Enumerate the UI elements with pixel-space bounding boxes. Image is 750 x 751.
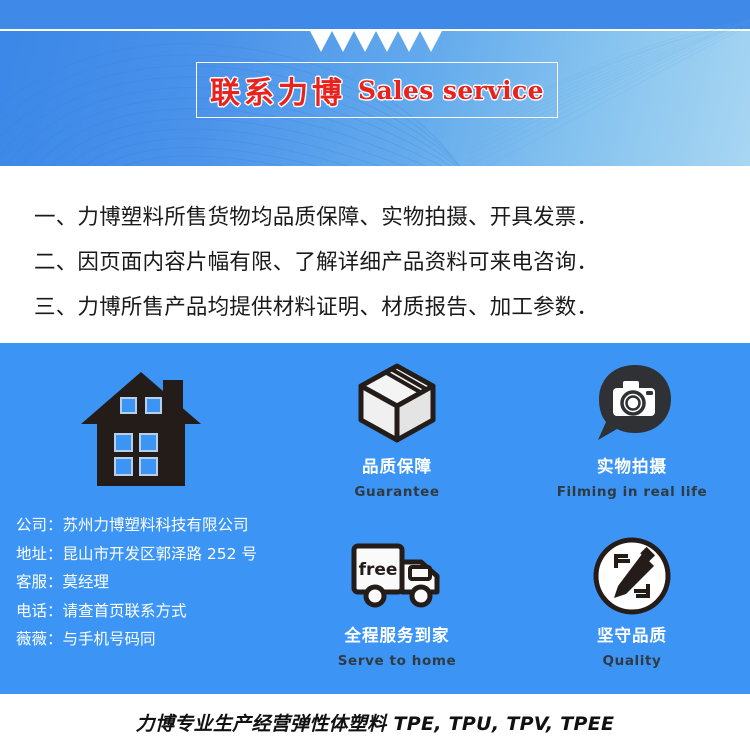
notes-section: 一、力博塑料所售货物均品质保障、实物拍摄、开具发票． 二、因页面内容片幅有限、了… xyxy=(0,166,750,343)
box-icon-wrap xyxy=(354,357,440,449)
truck-icon-wrap: free xyxy=(349,534,445,618)
contact-lines: 公司：苏州力博塑料科技有限公司 地址：昆山市开发区郭泽路 252 号 客服：莫经… xyxy=(16,511,288,654)
house-icon xyxy=(75,366,207,494)
feature-label-cn: 品质保障 xyxy=(362,453,432,477)
feature-label-en: Guarantee xyxy=(354,484,439,500)
note-item: 二、因页面内容片幅有限、了解详细产品资料可来电咨询． xyxy=(34,245,598,276)
truck-icon: free xyxy=(349,538,445,614)
company-contact-block: 公司：苏州力博塑料科技有限公司 地址：昆山市开发区郭泽路 252 号 客服：莫经… xyxy=(0,343,282,694)
feature-label-cn: 实物拍摄 xyxy=(597,453,667,477)
contact-company: 公司：苏州力博塑料科技有限公司 xyxy=(16,511,288,540)
contact-phone: 电话：请查首页联系方式 xyxy=(16,597,288,626)
feature-label-en: Serve to home xyxy=(338,653,457,669)
feature-card-guarantee[interactable]: 品质保障 Guarantee xyxy=(286,351,508,516)
banner-title-en: Sales service xyxy=(358,76,544,105)
house-icon-wrap xyxy=(0,355,282,505)
feature-card-delivery[interactable]: free 全程服务到家 Serve to home xyxy=(286,528,508,687)
feature-label-cn: 坚守品质 xyxy=(597,622,667,646)
feature-label-en: Filming in real life xyxy=(557,484,708,500)
footer: 力博专业生产经营弹性体塑料 TPE, TPU, TPV, TPEE xyxy=(0,694,750,751)
promo-page: 联系力博 Sales service 一、力博塑料所售货物均品质保障、实物拍摄、… xyxy=(0,0,750,751)
feature-label-en: Quality xyxy=(603,653,662,669)
pencil-icon xyxy=(592,536,672,616)
box-icon xyxy=(354,360,440,446)
feature-label-cn: 全程服务到家 xyxy=(345,622,450,646)
feature-card-quality[interactable]: 坚守品质 Quality xyxy=(520,528,744,687)
contact-wechat: 薇薇：与手机号码同 xyxy=(16,625,288,654)
note-item: 一、力博塑料所售货物均品质保障、实物拍摄、开具发票． xyxy=(34,200,598,231)
footer-slogan: 力博专业生产经营弹性体塑料 TPE, TPU, TPV, TPEE xyxy=(136,709,615,736)
banner-title-cn: 联系力博 xyxy=(210,68,346,112)
banner-top-band xyxy=(0,0,750,29)
camera-icon xyxy=(589,360,675,446)
svg-text:free: free xyxy=(359,560,398,580)
feature-card-filming[interactable]: 实物拍摄 Filming in real life xyxy=(520,351,744,516)
camera-icon-wrap xyxy=(589,357,675,449)
contact-service: 客服：莫经理 xyxy=(16,568,288,597)
feature-card-grid: 品质保障 Guarantee xyxy=(286,351,744,687)
banner: 联系力博 Sales service xyxy=(0,0,750,166)
banner-title-box: 联系力博 Sales service xyxy=(196,62,558,118)
contact-address: 地址：昆山市开发区郭泽路 252 号 xyxy=(16,540,288,569)
contact-panel: 公司：苏州力博塑料科技有限公司 地址：昆山市开发区郭泽路 252 号 客服：莫经… xyxy=(0,343,750,694)
note-item: 三、力博所售产品均提供材料证明、材质报告、加工参数． xyxy=(34,290,598,321)
pencil-icon-wrap xyxy=(592,534,672,618)
